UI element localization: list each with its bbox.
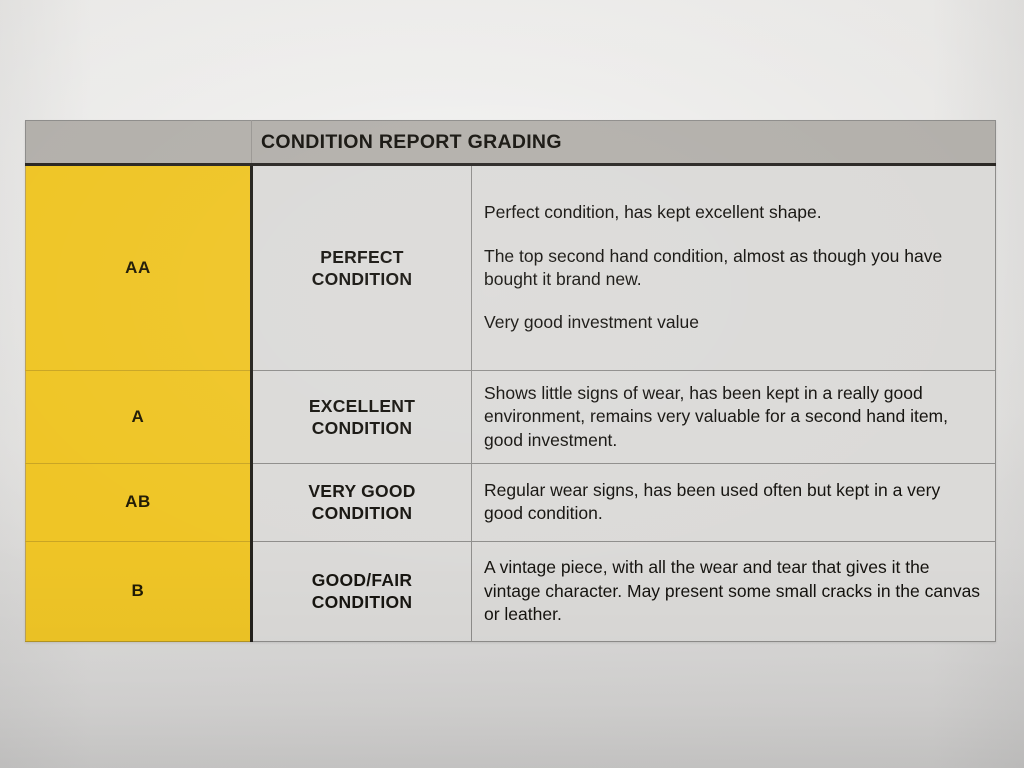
description-cell-a: Shows little signs of wear, has been kep… — [472, 371, 996, 464]
rating-line-2: CONDITION — [312, 592, 412, 612]
table-row: AB VERY GOOD CONDITION Regular wear sign… — [26, 463, 996, 541]
grade-cell-aa: AA — [26, 165, 252, 371]
header-title-cell: CONDITION REPORT GRADING — [252, 121, 996, 165]
page-title: CONDITION REPORT GRADING — [261, 131, 562, 153]
rating-line-1: VERY GOOD — [308, 481, 415, 501]
description-cell-b: A vintage piece, with all the wear and t… — [472, 541, 996, 641]
description-cell-aa: Perfect condition, has kept excellent sh… — [472, 165, 996, 371]
condition-report-grading-table: CONDITION REPORT GRADING AA PERFECT COND… — [25, 120, 996, 642]
description-paragraph: Perfect condition, has kept excellent sh… — [484, 201, 981, 224]
grade-cell-ab: AB — [26, 463, 252, 541]
description-paragraph: Very good investment value — [484, 311, 981, 334]
rating-cell-ab: VERY GOOD CONDITION — [252, 463, 472, 541]
description-paragraph: A vintage piece, with all the wear and t… — [484, 556, 981, 626]
table-header-row: CONDITION REPORT GRADING — [26, 121, 996, 165]
rating-line-2: CONDITION — [312, 503, 412, 523]
rating-cell-a: EXCELLENT CONDITION — [252, 371, 472, 464]
description-paragraph: The top second hand condition, almost as… — [484, 245, 981, 292]
grade-cell-b: B — [26, 541, 252, 641]
rating-line-2: CONDITION — [312, 418, 412, 438]
grade-cell-a: A — [26, 371, 252, 464]
rating-line-1: EXCELLENT — [309, 396, 415, 416]
rating-line-1: PERFECT — [320, 247, 403, 267]
rating-cell-b: GOOD/FAIR CONDITION — [252, 541, 472, 641]
rating-line-2: CONDITION — [312, 269, 412, 289]
table-row: A EXCELLENT CONDITION Shows little signs… — [26, 371, 996, 464]
table-row: AA PERFECT CONDITION Perfect condition, … — [26, 165, 996, 371]
description-paragraph: Regular wear signs, has been used often … — [484, 479, 981, 526]
table-row: B GOOD/FAIR CONDITION A vintage piece, w… — [26, 541, 996, 641]
rating-cell-aa: PERFECT CONDITION — [252, 165, 472, 371]
rating-line-1: GOOD/FAIR — [312, 570, 412, 590]
header-blank-cell — [26, 121, 252, 165]
description-paragraph: Shows little signs of wear, has been kep… — [484, 382, 981, 452]
description-cell-ab: Regular wear signs, has been used often … — [472, 463, 996, 541]
